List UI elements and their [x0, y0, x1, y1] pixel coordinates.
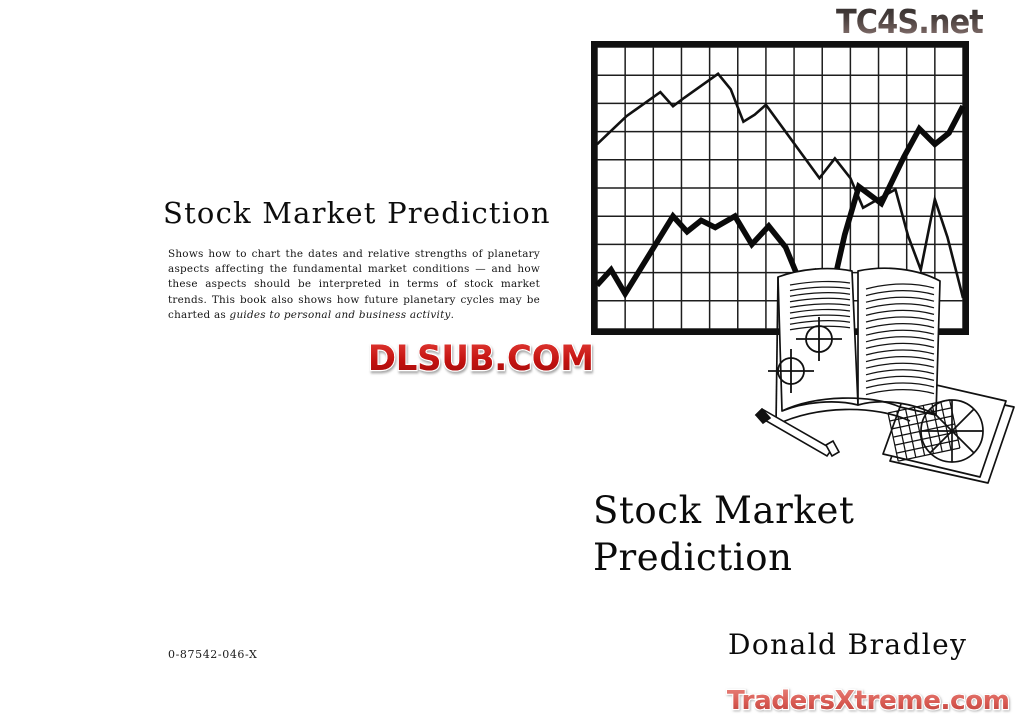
front-cover-author: Donald Bradley [728, 628, 967, 661]
back-cover-title: Stock Market Prediction [163, 196, 551, 230]
book-cover-scan: Stock Market Prediction Shows how to cha… [0, 0, 1024, 724]
book-left-edge [776, 277, 778, 425]
back-cover-blurb: Shows how to chart the dates and relativ… [168, 247, 540, 323]
blurb-text-italic: guides to personal and business activity [230, 309, 451, 321]
front-cover-panel: Stock Market Prediction Donald Bradley [560, 0, 1024, 724]
front-title-line2: Prediction [593, 534, 923, 581]
front-cover-title: Stock Market Prediction [593, 487, 923, 581]
front-title-line1: Stock Market [593, 487, 923, 534]
back-cover-panel: Stock Market Prediction Shows how to cha… [0, 0, 560, 724]
isbn-number: 0-87542-046-X [168, 648, 257, 661]
blurb-text-end: . [451, 309, 455, 321]
open-book-illustration [740, 255, 1024, 485]
